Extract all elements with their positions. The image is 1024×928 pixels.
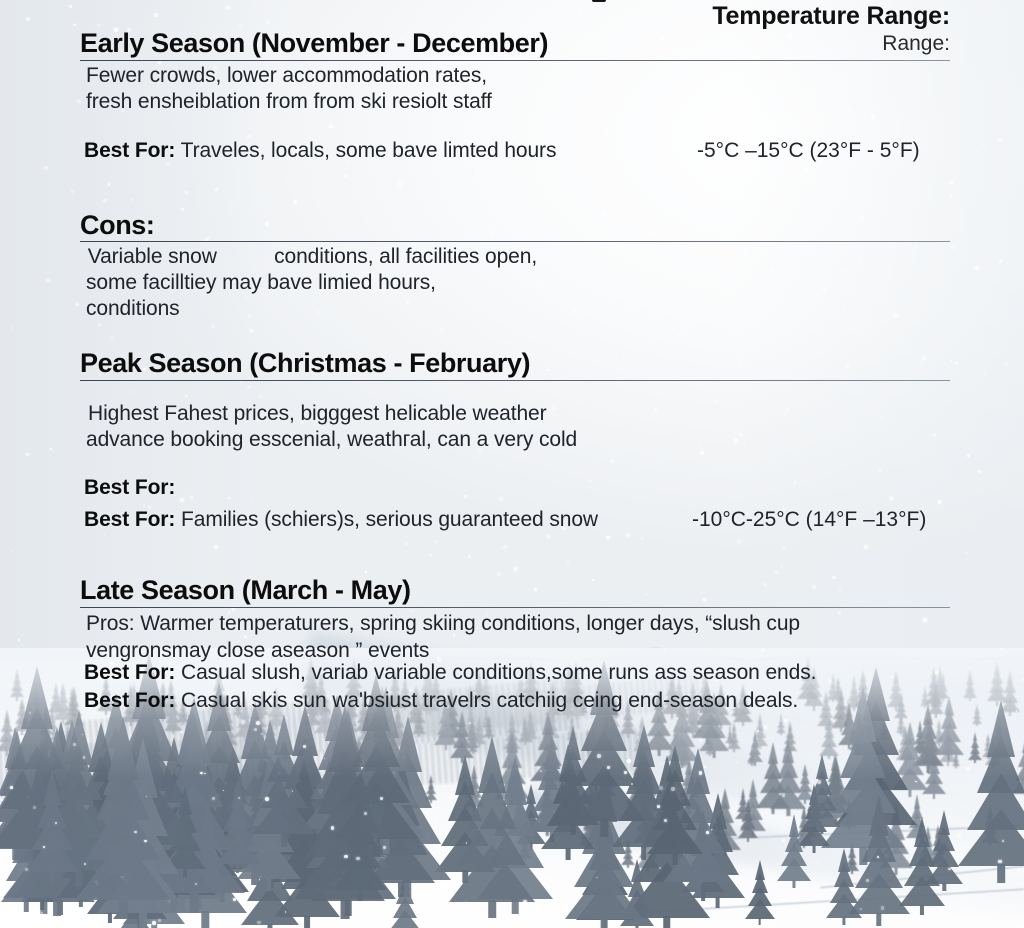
best-for-text: Traveles, locals, some bave limted hours — [181, 139, 557, 162]
temperature-value: -10°C-25°C (14°F –13°F) — [692, 508, 926, 532]
section-body-line: some facilltiey may bave limied hours, — [86, 271, 436, 295]
section-body-line: Highest Fahest prices, bigggest heliсabl… — [88, 402, 547, 426]
section-rule — [80, 607, 950, 608]
best-for-text: Casual skis sun waʹbsiust travelrs catch… — [181, 689, 798, 712]
section-best-for: Best For: Families (schiers)s, serious g… — [84, 508, 598, 532]
cropped-title-glyph — [592, 0, 606, 2]
section-body-line: advance booking esscenial, weathгаl, can… — [86, 428, 577, 452]
section-best-for: Best For: Traveles, locals, some bave li… — [84, 139, 556, 163]
section-body-line: Pros: Warmer temperaturers, spring skiin… — [86, 612, 800, 636]
section-rule — [80, 241, 950, 242]
section-body-line: Fewer crowds, lower accommodation rates, — [86, 64, 487, 88]
section-body-line: Variable snow conditions, all facilities… — [82, 245, 537, 269]
section-rule — [80, 60, 950, 61]
section-body-line: conditions — [86, 297, 180, 321]
section-body-line: vengronsmay close aseason ” events — [86, 639, 429, 663]
section-title: Late Season (March - May) — [80, 575, 411, 606]
temperature-range-subtitle: Range: — [712, 33, 950, 54]
temperature-value: -5°C –15°C (23°F - 5°F) — [697, 139, 920, 163]
best-for-label-standalone: Best For: — [84, 476, 175, 500]
best-for-label: Best For: — [84, 661, 175, 684]
section-title: Peak Season (Christmas - February) — [80, 348, 530, 379]
temperature-range-title: Temperature Range: — [712, 4, 950, 29]
best-for-text: Casual slush, variab variable conditions… — [181, 661, 816, 684]
section-rule — [80, 380, 950, 381]
best-for-label: Best For: — [84, 508, 175, 531]
section-best-for: Best For: Casual slush, variab variable … — [84, 661, 816, 685]
best-for-label: Best For: — [84, 689, 175, 712]
section-best-for: Best For: Casual skis sun waʹbsiust trav… — [84, 689, 798, 713]
temperature-range-header: Temperature Range: Range: — [712, 4, 950, 54]
section-body-line: fresh ensheiblation from from ski resiol… — [86, 90, 492, 114]
section-title: Cons: — [80, 210, 155, 241]
best-for-text: Families (schiers)s, serious guaranteed … — [181, 508, 598, 531]
poster-canvas: Temperature Range: Range: Early Season (… — [0, 0, 1024, 928]
poster-content: Temperature Range: Range: Early Season (… — [0, 0, 1024, 928]
section-title: Early Season (November - December) — [80, 28, 548, 59]
best-for-label: Best For: — [84, 139, 175, 162]
